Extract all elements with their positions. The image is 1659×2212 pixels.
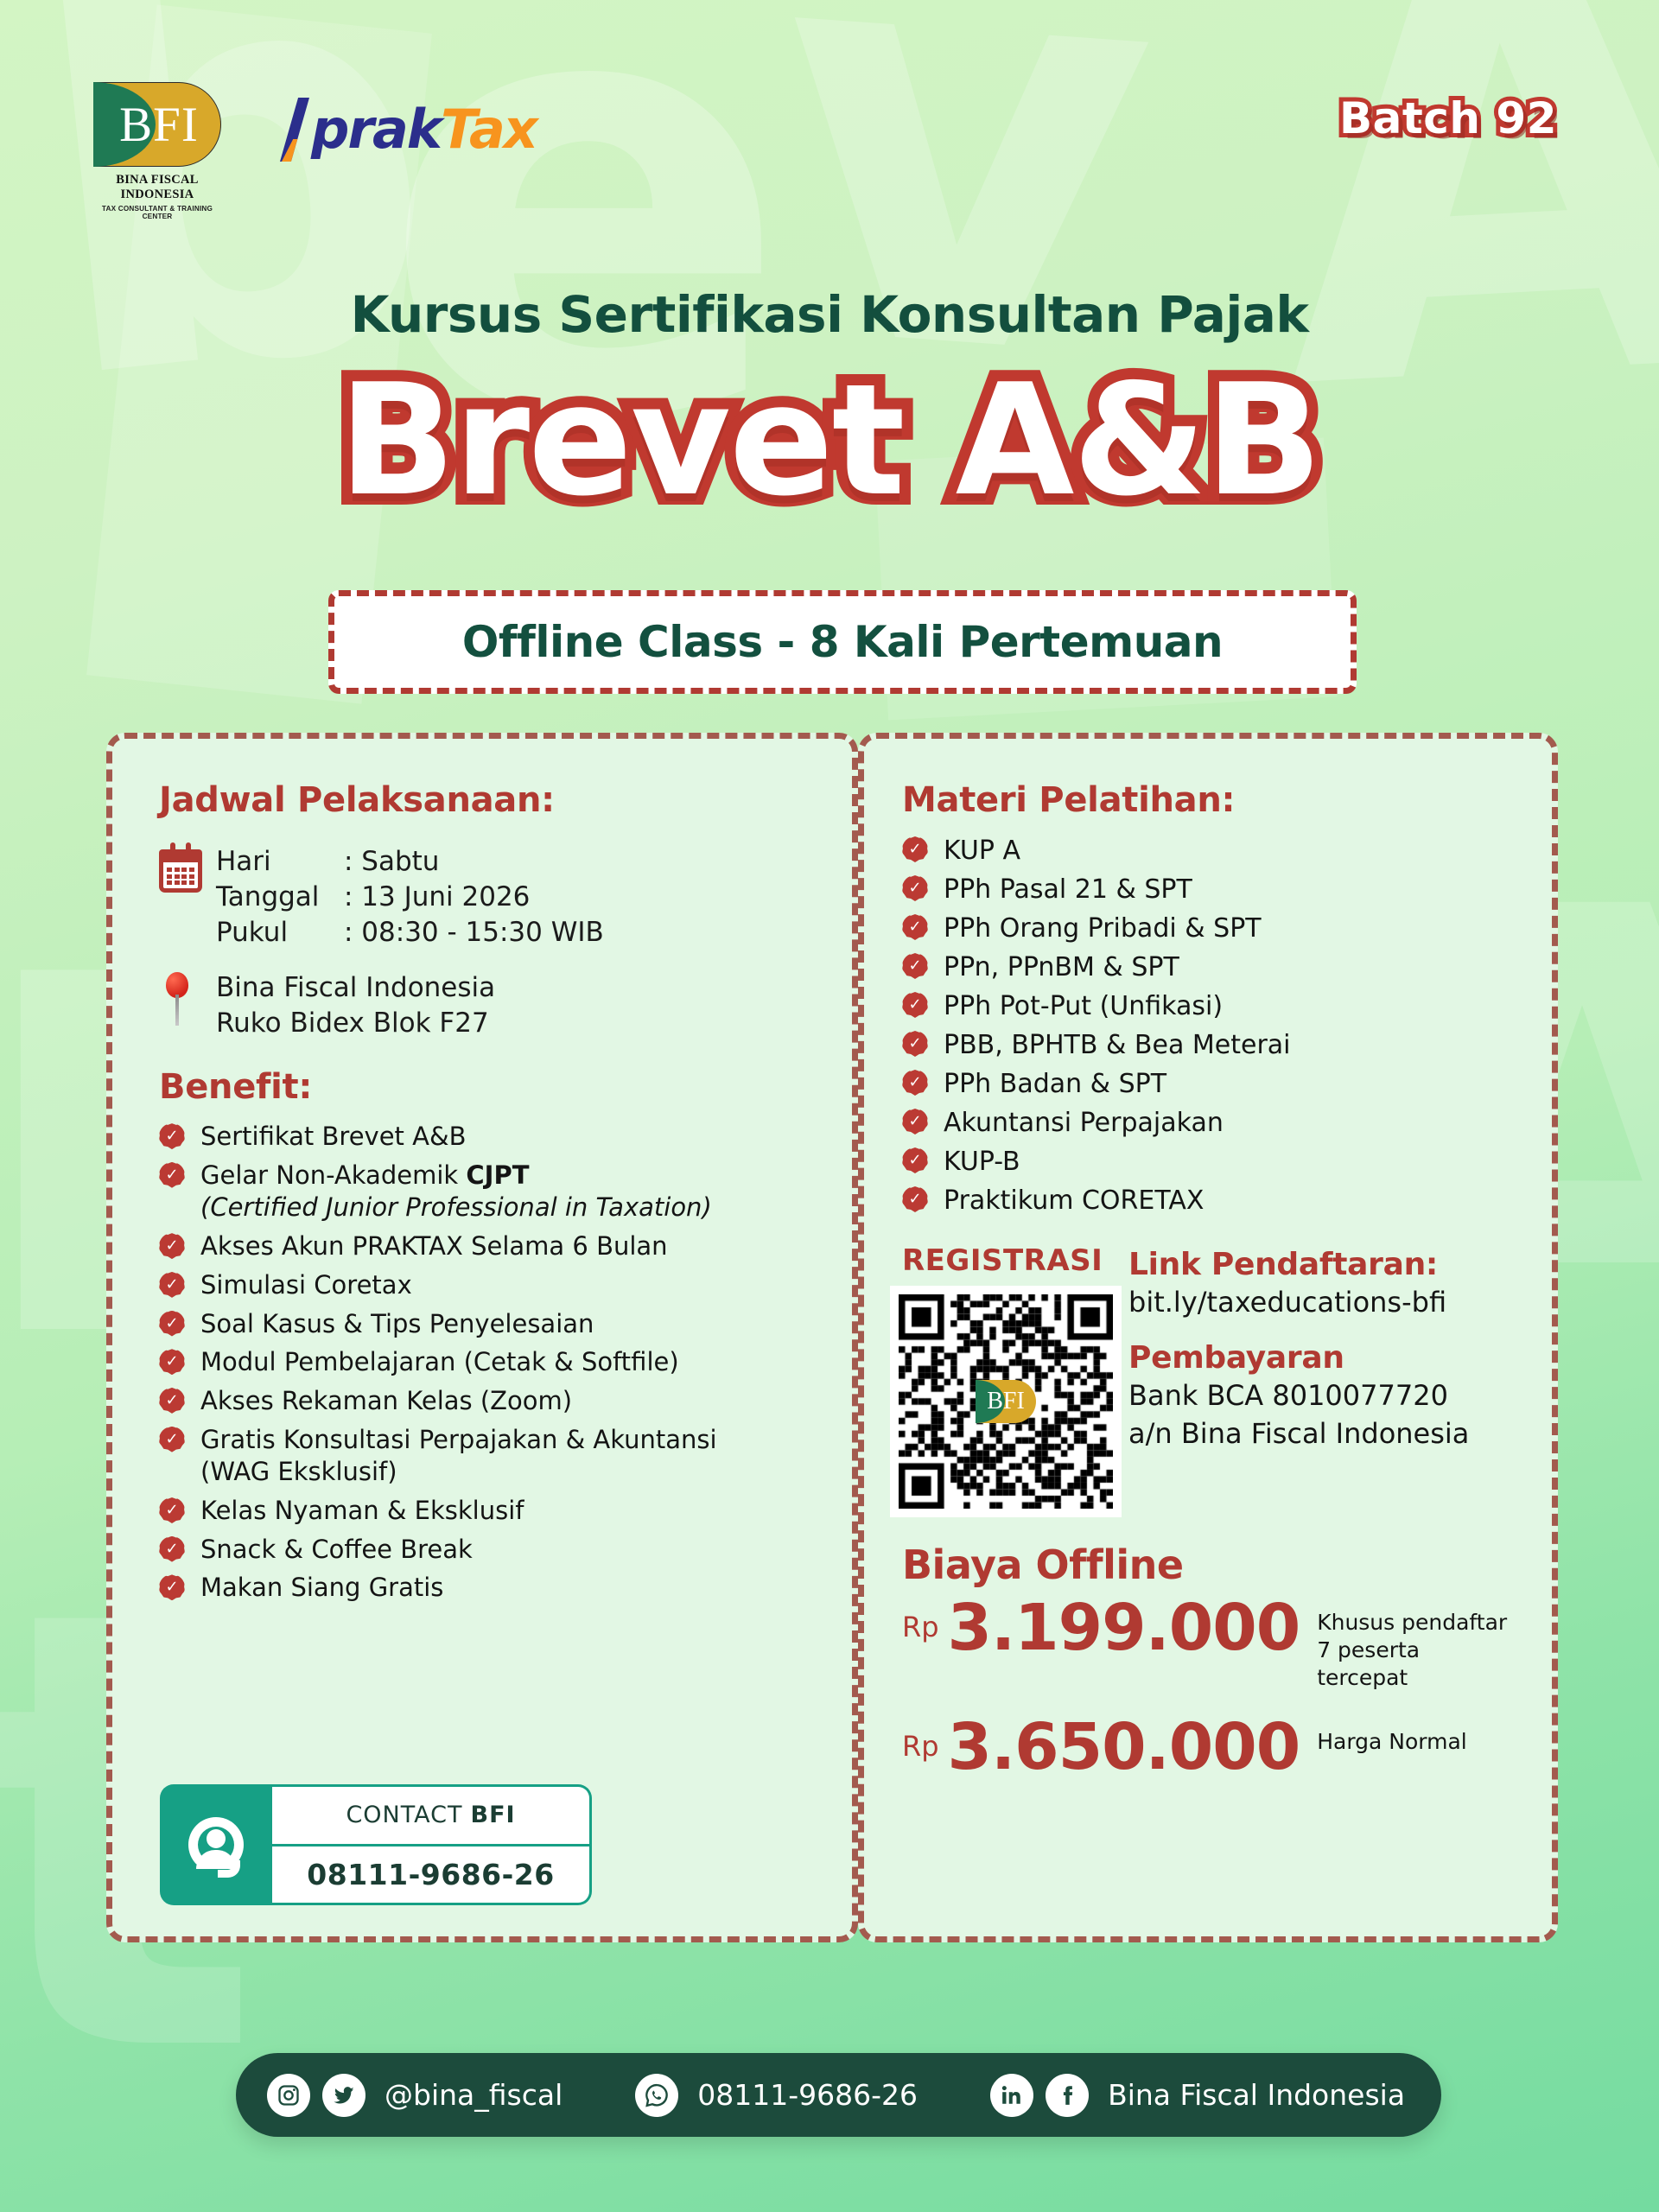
- schedule-row: Tanggal : 13 Juni 2026: [216, 880, 604, 915]
- benefit-item-subtext: (Certified Junior Professional in Taxati…: [200, 1192, 805, 1224]
- benefit-item: ✓Akses Akun PRAKTAX Selama 6 Bulan: [159, 1230, 805, 1263]
- check-badge-icon: ✓: [159, 1349, 185, 1375]
- materi-item: ✓PPh Orang Pribadi & SPT: [902, 912, 1514, 945]
- eyebrow-title: Kursus Sertifikasi Konsultan Pajak: [0, 285, 1659, 344]
- benefit-item-label: Gratis Konsultasi Perpajakan & Akuntansi: [200, 1425, 717, 1454]
- contact-box[interactable]: CONTACT BFI 08111-9686-26: [160, 1784, 592, 1905]
- materi-item-label: Praktikum CORETAX: [944, 1185, 1204, 1216]
- schedule-row-value: : Sabtu: [344, 844, 439, 880]
- benefit-item: ✓Sertifikat Brevet A&B: [159, 1121, 805, 1154]
- normal-price: 3.650.000: [948, 1714, 1300, 1782]
- check-badge-icon: ✓: [159, 1233, 185, 1259]
- location-line-1: Bina Fiscal Indonesia: [216, 970, 495, 1006]
- whatsapp-number[interactable]: 08111-9686-26: [697, 2078, 918, 2112]
- promo-price: 3.199.000: [948, 1595, 1300, 1662]
- schedule-benefit-card: Jadwal Pelaksanaan: Hari : Sabtu Tanggal: [106, 733, 858, 1942]
- schedule-row-value: : 08:30 - 15:30 WIB: [344, 915, 604, 950]
- materi-item-label: KUP A: [944, 836, 1020, 866]
- footer-bar: @bina_fiscal 08111-9686-26 Bina Fiscal I…: [236, 2053, 1441, 2137]
- check-badge-icon: ✓: [902, 1031, 928, 1057]
- schedule-row-value: : 13 Juni 2026: [344, 880, 530, 915]
- bfi-logo-letters: BFI: [93, 82, 221, 167]
- benefit-item-label: Simulasi Coretax: [200, 1270, 412, 1300]
- location-block: Bina Fiscal Indonesia Ruko Bidex Blok F2…: [159, 970, 805, 1041]
- format-banner-label: Offline Class - 8 Kali Pertemuan: [462, 617, 1223, 667]
- contact-brand: BFI: [470, 1802, 515, 1828]
- check-badge-icon: ✓: [159, 1311, 185, 1337]
- check-badge-icon: ✓: [159, 1162, 185, 1188]
- qr-code[interactable]: BFI: [890, 1286, 1122, 1517]
- check-badge-icon: ✓: [159, 1427, 185, 1452]
- materi-item: ✓Praktikum CORETAX: [902, 1184, 1514, 1217]
- calendar-icon: [159, 844, 216, 951]
- benefit-heading: Benefit:: [159, 1067, 805, 1107]
- logo-group: BFI BINA FISCAL INDONESIA TAX CONSULTANT…: [93, 82, 537, 220]
- contact-label-row: CONTACT BFI: [272, 1787, 589, 1847]
- materi-item-label: Akuntansi Perpajakan: [944, 1108, 1224, 1138]
- bfi-logo-tagline: TAX CONSULTANT & TRAINING CENTER: [93, 205, 221, 220]
- praktax-slash-icon: [280, 98, 309, 162]
- materi-registration-card: Materi Pelatihan: ✓KUP A✓PPh Pasal 21 & …: [858, 733, 1558, 1942]
- link-heading: Link Pendaftaran:: [1128, 1247, 1469, 1282]
- content-cards: Jadwal Pelaksanaan: Hari : Sabtu Tanggal: [106, 733, 1558, 1942]
- check-badge-icon: ✓: [159, 1536, 185, 1562]
- registration-link[interactable]: bit.ly/taxeducations-bfi: [1128, 1285, 1469, 1321]
- materi-item: ✓PPh Badan & SPT: [902, 1067, 1514, 1101]
- bfi-logo: BFI BINA FISCAL INDONESIA TAX CONSULTANT…: [93, 82, 221, 220]
- materi-item: ✓KUP-B: [902, 1145, 1514, 1179]
- bfi-logo-name: BINA FISCAL INDONESIA: [93, 173, 221, 202]
- registration-qr-column: REGISTRASI BFI: [902, 1243, 1097, 1517]
- facebook-icon[interactable]: [1046, 2074, 1089, 2117]
- materi-item-label: PPh Orang Pribadi & SPT: [944, 913, 1262, 944]
- benefit-item-label: Sertifikat Brevet A&B: [200, 1122, 466, 1151]
- schedule-heading: Jadwal Pelaksanaan:: [159, 780, 805, 820]
- materi-item: ✓PPh Pasal 21 & SPT: [902, 873, 1514, 906]
- contact-label: CONTACT: [346, 1802, 462, 1828]
- materi-item: ✓PPn, PPnBM & SPT: [902, 950, 1514, 984]
- contact-phone[interactable]: 08111-9686-26: [272, 1847, 589, 1904]
- check-badge-icon: ✓: [159, 1123, 185, 1149]
- location-line-2: Ruko Bidex Blok F27: [216, 1006, 495, 1041]
- materi-item-label: KUP-B: [944, 1147, 1020, 1177]
- benefit-item-label: Kelas Nyaman & Eksklusif: [200, 1496, 524, 1525]
- page-name[interactable]: Bina Fiscal Indonesia: [1108, 2078, 1405, 2112]
- check-badge-icon: ✓: [159, 1574, 185, 1600]
- benefit-list: ✓Sertifikat Brevet A&B✓Gelar Non-Akademi…: [159, 1121, 805, 1605]
- benefit-item: ✓Akses Rekaman Kelas (Zoom): [159, 1385, 805, 1418]
- currency-symbol: Rp: [902, 1595, 939, 1643]
- benefit-item-label: Gelar Non-Akademik: [200, 1160, 466, 1190]
- instagram-icon[interactable]: [267, 2074, 310, 2117]
- praktax-logo-prak: prak: [311, 103, 441, 156]
- pricing-heading: Biaya Offline: [902, 1541, 1514, 1588]
- poster-header: BFI BINA FISCAL INDONESIA TAX CONSULTANT…: [0, 0, 1659, 199]
- benefit-item-label: Snack & Coffee Break: [200, 1535, 473, 1564]
- schedule-rows: Hari : Sabtu Tanggal : 13 Juni 2026 Puku…: [216, 844, 604, 951]
- promo-note-line-1: Khusus pendaftar: [1317, 1610, 1507, 1635]
- schedule-row-key: Tanggal: [216, 880, 344, 915]
- check-badge-icon: ✓: [159, 1388, 185, 1414]
- benefit-item: ✓Gelar Non-Akademik CJPT(Certified Junio…: [159, 1160, 805, 1224]
- contact-body: CONTACT BFI 08111-9686-26: [272, 1784, 592, 1905]
- praktax-logo-tax: Tax: [441, 103, 537, 156]
- materi-item: ✓PBB, BPHTB & Bea Meterai: [902, 1028, 1514, 1062]
- materi-item: ✓PPh Pot-Put (Unfikasi): [902, 989, 1514, 1023]
- check-badge-icon: ✓: [902, 1070, 928, 1096]
- promo-note-line-2: 7 peserta tercepat: [1317, 1637, 1420, 1690]
- qr-center-label: BFI: [987, 1388, 1025, 1415]
- materi-item-label: PPn, PPnBM & SPT: [944, 952, 1179, 982]
- format-banner: Offline Class - 8 Kali Pertemuan: [328, 590, 1357, 694]
- registration-block: REGISTRASI BFI Link Pendaftaran: bit.ly/…: [902, 1243, 1514, 1517]
- social-handle[interactable]: @bina_fiscal: [385, 2078, 563, 2112]
- schedule-block: Hari : Sabtu Tanggal : 13 Juni 2026 Puku…: [159, 844, 805, 951]
- batch-badge: Batch 92: [1339, 93, 1557, 143]
- location-text: Bina Fiscal Indonesia Ruko Bidex Blok F2…: [216, 970, 495, 1041]
- benefit-item: ✓Simulasi Coretax: [159, 1269, 805, 1302]
- check-badge-icon: ✓: [902, 953, 928, 979]
- poster-root: b e v A r e A t BFI BINA FISCAL INDONESI…: [0, 0, 1659, 2212]
- materi-item-label: PPh Pot-Put (Unfikasi): [944, 991, 1223, 1021]
- materi-item: ✓Akuntansi Perpajakan: [902, 1106, 1514, 1140]
- price-row-promo: Rp 3.199.000 Khusus pendaftar 7 peserta …: [902, 1595, 1514, 1692]
- materi-item-label: PBB, BPHTB & Bea Meterai: [944, 1030, 1291, 1060]
- check-badge-icon: ✓: [902, 875, 928, 901]
- materi-list: ✓KUP A✓PPh Pasal 21 & SPT✓PPh Orang Prib…: [902, 834, 1514, 1217]
- materi-heading: Materi Pelatihan:: [902, 780, 1514, 820]
- benefit-item-label: Makan Siang Gratis: [200, 1573, 443, 1602]
- registration-info-column: Link Pendaftaran: bit.ly/taxeducations-b…: [1097, 1243, 1469, 1517]
- materi-item: ✓KUP A: [902, 834, 1514, 868]
- benefit-item-label: Akses Akun PRAKTAX Selama 6 Bulan: [200, 1231, 668, 1261]
- bfi-logo-mark-icon: BFI: [93, 82, 221, 167]
- benefit-item: ✓Soal Kasus & Tips Penyelesaian: [159, 1308, 805, 1341]
- benefit-item: ✓Modul Pembelajaran (Cetak & Softfile): [159, 1346, 805, 1379]
- page-title: Brevet A&B: [0, 356, 1659, 525]
- benefit-item: ✓Gratis Konsultasi Perpajakan & Akuntans…: [159, 1424, 805, 1489]
- check-badge-icon: ✓: [902, 1147, 928, 1173]
- check-badge-icon: ✓: [159, 1497, 185, 1523]
- payment-heading: Pembayaran: [1128, 1340, 1469, 1376]
- materi-item-label: PPh Badan & SPT: [944, 1069, 1166, 1099]
- schedule-row-key: Hari: [216, 844, 344, 880]
- headset-icon: [160, 1784, 272, 1905]
- qr-center-logo-icon: BFI: [976, 1380, 1036, 1423]
- whatsapp-icon[interactable]: [635, 2074, 678, 2117]
- check-badge-icon: ✓: [902, 992, 928, 1018]
- linkedin-icon[interactable]: [990, 2074, 1033, 2117]
- praktax-logo: prak Tax: [280, 98, 537, 162]
- price-row-normal: Rp 3.650.000 Harga Normal: [902, 1714, 1514, 1782]
- currency-symbol: Rp: [902, 1714, 939, 1763]
- normal-note: Harga Normal: [1317, 1714, 1467, 1756]
- benefit-item-label: Modul Pembelajaran (Cetak & Softfile): [200, 1347, 679, 1376]
- benefit-item-emphasis: CJPT: [466, 1160, 529, 1190]
- benefit-item-label: Soal Kasus & Tips Penyelesaian: [200, 1309, 594, 1338]
- check-badge-icon: ✓: [902, 1109, 928, 1135]
- benefit-item-subtext: (WAG Eksklusif): [200, 1456, 805, 1489]
- map-pin-icon: [159, 970, 216, 1041]
- twitter-icon[interactable]: [322, 2074, 365, 2117]
- registration-title: REGISTRASI: [902, 1243, 1097, 1278]
- schedule-row-key: Pukul: [216, 915, 344, 950]
- benefit-item: ✓Snack & Coffee Break: [159, 1534, 805, 1567]
- benefit-item-label: Akses Rekaman Kelas (Zoom): [200, 1386, 572, 1415]
- schedule-row: Pukul : 08:30 - 15:30 WIB: [216, 915, 604, 950]
- check-badge-icon: ✓: [902, 1186, 928, 1212]
- schedule-row: Hari : Sabtu: [216, 844, 604, 880]
- promo-note: Khusus pendaftar 7 peserta tercepat: [1317, 1595, 1514, 1692]
- benefit-item: ✓Makan Siang Gratis: [159, 1572, 805, 1605]
- payment-bank-account: Bank BCA 8010077720: [1128, 1378, 1469, 1414]
- check-badge-icon: ✓: [902, 914, 928, 940]
- check-badge-icon: ✓: [159, 1272, 185, 1298]
- check-badge-icon: ✓: [902, 836, 928, 862]
- payment-account-name: a/n Bina Fiscal Indonesia: [1128, 1416, 1469, 1452]
- materi-item-label: PPh Pasal 21 & SPT: [944, 874, 1192, 905]
- benefit-item: ✓Kelas Nyaman & Eksklusif: [159, 1495, 805, 1528]
